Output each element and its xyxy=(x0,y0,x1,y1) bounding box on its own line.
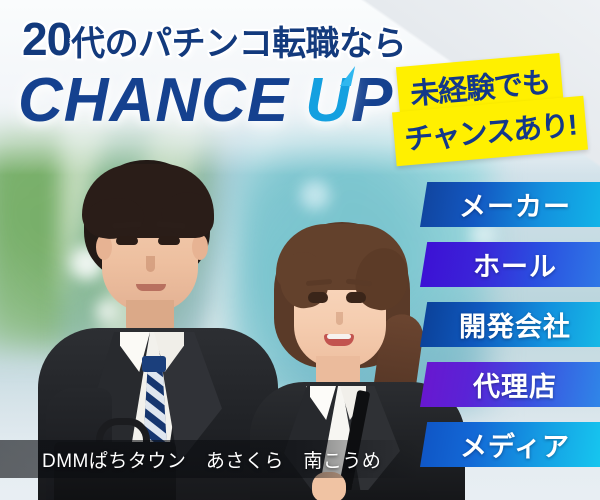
category-label: 開発会社 xyxy=(449,305,571,344)
category-item-maker[interactable]: メーカー xyxy=(420,182,600,227)
credits-bar: DMMぱちタウン あさくら 南こうめ xyxy=(0,440,420,478)
woman-nose xyxy=(336,312,343,325)
woman-hair-front xyxy=(276,224,408,290)
category-item-developer[interactable]: 開発会社 xyxy=(420,302,600,347)
bokeh-light-4 xyxy=(300,180,330,210)
headline-number: 20 xyxy=(22,13,71,65)
woman-eye-right xyxy=(346,292,366,303)
category-item-media[interactable]: メディア xyxy=(420,422,600,467)
category-item-agency[interactable]: 代理店 xyxy=(420,362,600,407)
chance-up-logo: CHANCEUP xyxy=(18,70,393,132)
man-eye-left xyxy=(116,236,138,245)
headline: 20代のパチンコ転職なら xyxy=(22,16,406,62)
logo-letter-p: P xyxy=(351,66,393,135)
category-label: 代理店 xyxy=(463,365,557,404)
man-mouth xyxy=(136,284,166,291)
logo-word-chance: CHANCE xyxy=(18,66,289,135)
woman-eye-left xyxy=(308,292,328,303)
credits-text: DMMぱちタウン あさくら 南こうめ xyxy=(0,446,381,473)
category-item-hall[interactable]: ホール xyxy=(420,242,600,287)
category-label: メディア xyxy=(450,425,570,464)
callout-badge-2-label: チャンスあり! xyxy=(403,110,577,157)
headline-middle: 代のパチンコ転職 xyxy=(71,25,339,63)
logo-letter-u-arrow-icon: U xyxy=(305,70,351,132)
category-label: ホール xyxy=(463,245,557,284)
headline-tail: なら xyxy=(339,25,406,63)
banner-ad[interactable]: 20代のパチンコ転職なら CHANCEUP 未経験でも チャンスあり! メーカー… xyxy=(0,0,600,500)
category-list: メーカー ホール 開発会社 代理店 メディア xyxy=(415,182,600,482)
man-nose xyxy=(146,256,155,272)
man-tie-knot xyxy=(142,356,166,372)
man-eye-right xyxy=(158,236,180,245)
category-label: メーカー xyxy=(449,185,571,224)
man-hair-front xyxy=(82,164,214,238)
woman-mouth xyxy=(324,334,354,346)
